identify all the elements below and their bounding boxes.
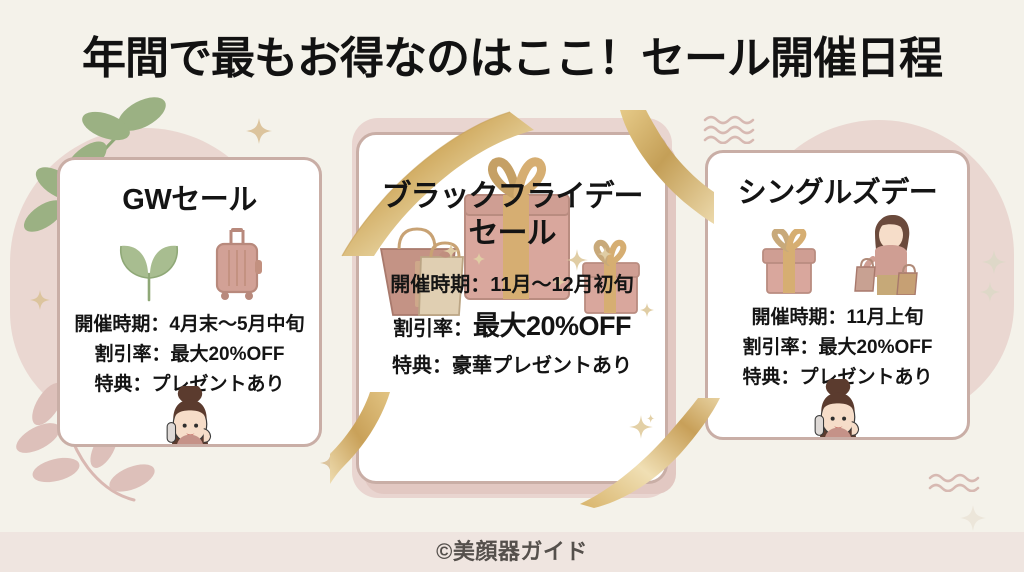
sparkle-icon-4 xyxy=(982,250,1006,274)
card-title-black-friday-line2: セール xyxy=(359,216,665,253)
suitcase-icon xyxy=(209,226,265,302)
detail-discount-bf-label: 割引率： xyxy=(393,318,473,340)
detail-discount-gw: 割引率：最大20%OFF xyxy=(60,340,319,370)
gold-ribbon-bottom-left xyxy=(330,392,410,502)
detail-period-sd: 開催時期：11月上旬 xyxy=(708,303,967,333)
card-title-gw: GWセール xyxy=(60,176,319,218)
card-gw-sale[interactable]: GWセール xyxy=(57,157,322,447)
detail-bonus-bf: 特典：豪華プレゼントあり xyxy=(359,349,665,383)
card-title-singles-day: シングルズデー xyxy=(708,169,967,211)
page-title-strong: セール開催日程 xyxy=(641,34,942,83)
leaf-icon xyxy=(115,240,183,302)
page-title-normal: 年間で最もお得なのはここ！ xyxy=(82,34,641,83)
detail-discount-bf-value: 最大20%OFF xyxy=(473,311,631,341)
card-singles-day[interactable]: シングルズデー xyxy=(705,150,970,440)
detail-period-bf: 開催時期：11月〜12月初旬 xyxy=(359,268,665,302)
detail-list-black-friday: 開催時期：11月〜12月初旬 割引率：最大20%OFF 特典：豪華プレゼントあり xyxy=(359,268,665,383)
woman-beauty-device-illustration-left xyxy=(128,386,252,447)
sparkle-icon-2 xyxy=(30,290,50,310)
card-title-black-friday: ブラックフライデー セール xyxy=(359,179,665,252)
woman-beauty-device-illustration-right xyxy=(776,379,900,440)
card-title-black-friday-line1: ブラックフライデー xyxy=(382,180,643,213)
detail-discount-bf: 割引率：最大20%OFF xyxy=(359,303,665,349)
sparkle-icon-5 xyxy=(980,282,1000,302)
gift-box-icon xyxy=(757,229,819,295)
footer-credit: ©美顔器ガイド xyxy=(0,534,1024,566)
detail-discount-sd: 割引率：最大20%OFF xyxy=(708,333,967,363)
page-title: 年間で最もお得なのはここ！セール開催日程 xyxy=(0,22,1024,86)
icon-row-singles-day xyxy=(708,217,967,295)
sparkle-icon-bonus-bf xyxy=(627,413,655,441)
shopping-woman-icon xyxy=(845,215,919,295)
icon-row-gw xyxy=(60,224,319,302)
sparkle-icon-1 xyxy=(246,118,272,144)
wave-lines-bottom-right xyxy=(928,470,986,492)
infographic-canvas: 年間で最もお得なのはここ！セール開催日程 GWセール xyxy=(0,0,1024,572)
detail-period-gw: 開催時期：4月末〜5月中旬 xyxy=(60,310,319,340)
sparkle-icon-6 xyxy=(960,505,986,531)
